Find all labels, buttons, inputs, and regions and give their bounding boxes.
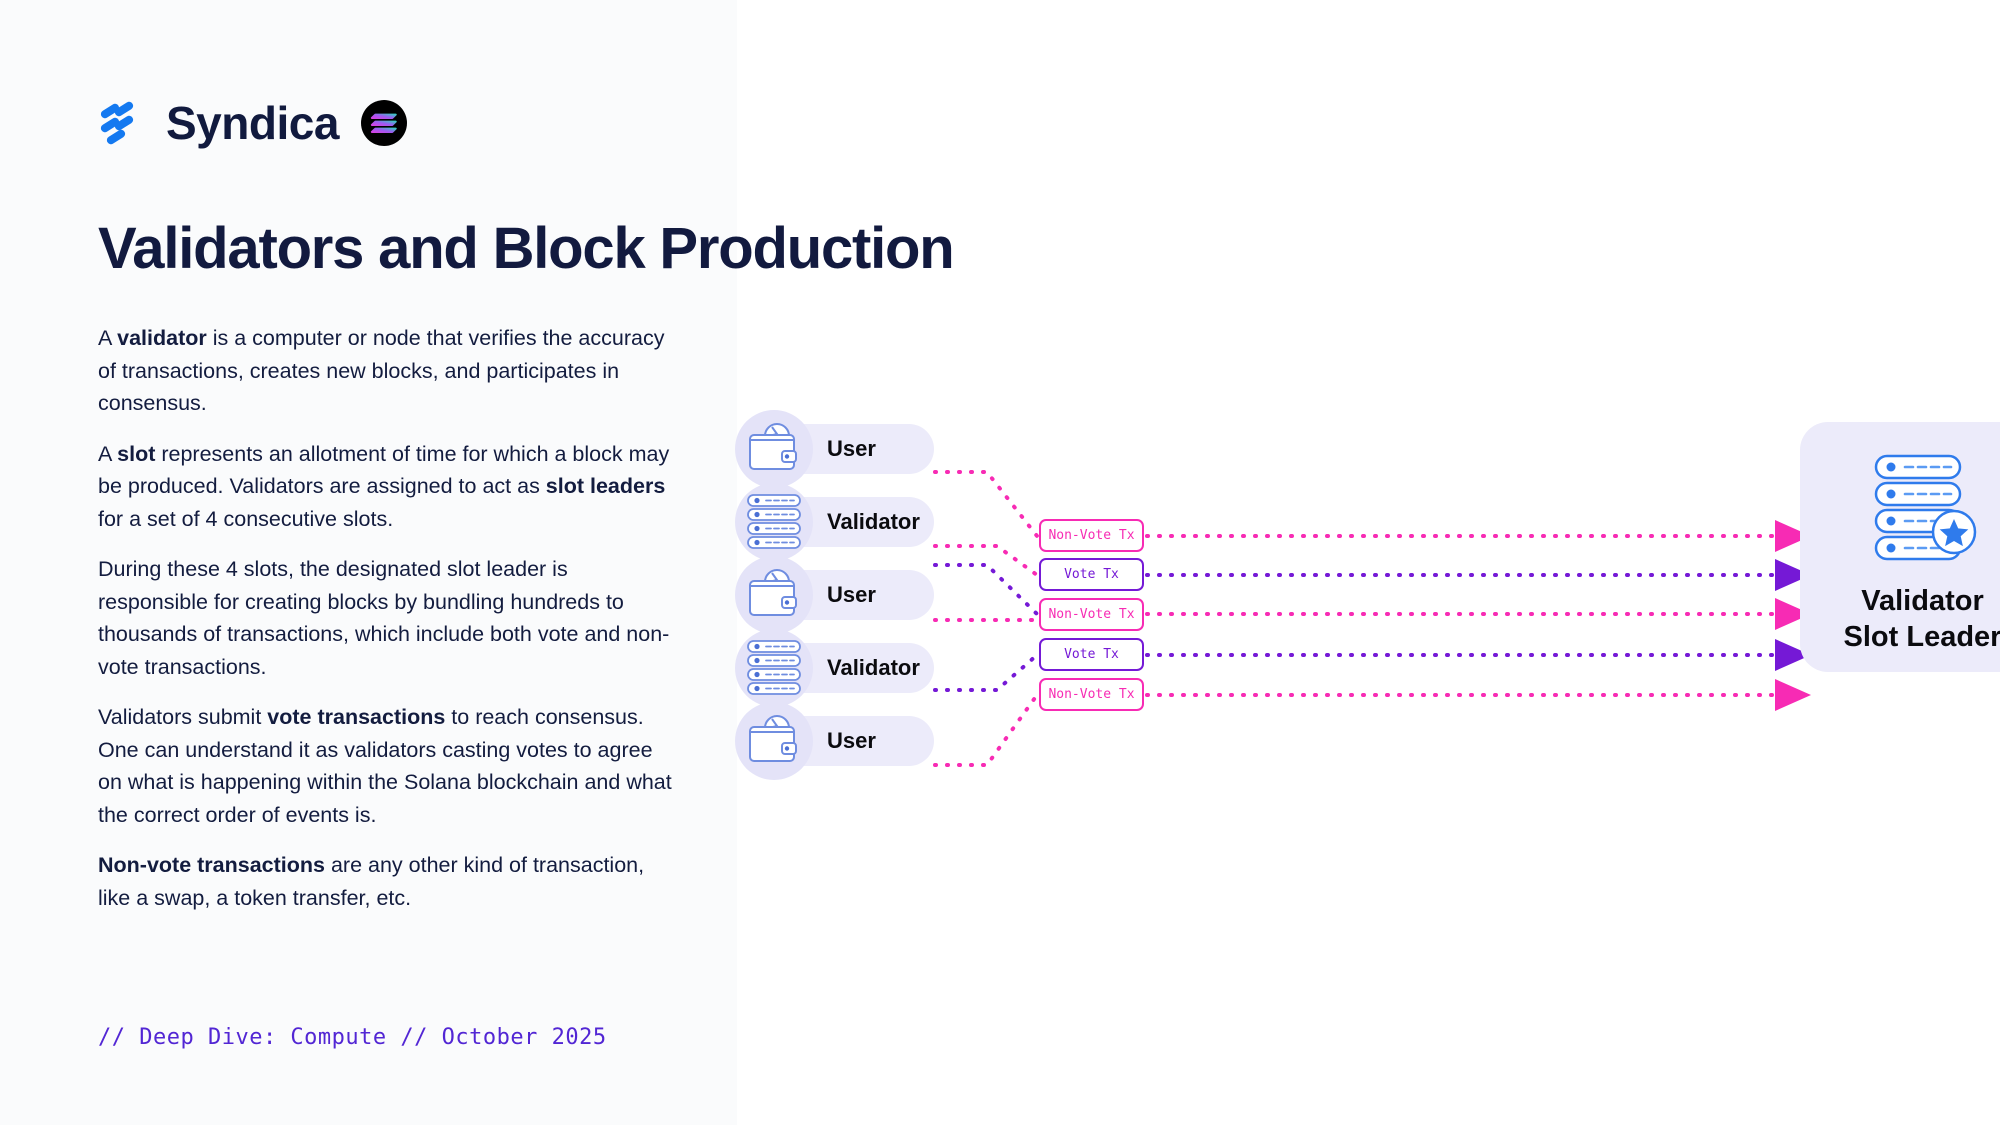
node-user-2: User <box>749 570 934 620</box>
tx-chip-nonvote-4: Non-Vote Tx <box>1039 678 1144 711</box>
diagram: User Validator User <box>737 0 2000 1125</box>
paragraph-p1: A validator is a computer or node that v… <box>98 322 678 420</box>
tx-chip-nonvote-2: Non-Vote Tx <box>1039 598 1144 631</box>
server-stack-star-icon <box>1864 450 1982 567</box>
slot-leader-label: Validator Slot Leader <box>1844 583 2000 655</box>
syndica-dots-logo <box>98 101 144 145</box>
node-user-4: User <box>749 716 934 766</box>
node-list: User Validator User <box>749 424 934 789</box>
node-label: User <box>827 582 876 608</box>
paragraph-p5: Non-vote transactions are any other kind… <box>98 849 678 914</box>
paragraph-p4: Validators submit vote transactions to r… <box>98 701 678 831</box>
tx-chip-vote-3: Vote Tx <box>1039 638 1144 671</box>
slide: Syndica Validators and Block Production … <box>0 0 2000 1125</box>
node-label: User <box>827 728 876 754</box>
tx-chip-nonvote-0: Non-Vote Tx <box>1039 519 1144 552</box>
wallet-icon <box>735 702 813 780</box>
brand-header: Syndica <box>98 100 407 146</box>
node-label: User <box>827 436 876 462</box>
server-stack-icon <box>735 629 813 707</box>
slot-leader-line1: Validator <box>1844 583 2000 619</box>
validator-slot-leader: Validator Slot Leader <box>1800 422 2000 672</box>
node-label: Validator <box>827 509 920 535</box>
node-label: Validator <box>827 655 920 681</box>
wallet-icon <box>735 556 813 634</box>
slot-leader-line2: Slot Leader <box>1844 619 2000 655</box>
brand-name: Syndica <box>166 100 339 146</box>
node-user-0: User <box>749 424 934 474</box>
paragraph-p3: During these 4 slots, the designated slo… <box>98 553 678 683</box>
solana-logo <box>361 100 407 146</box>
tx-chip-vote-1: Vote Tx <box>1039 558 1144 591</box>
node-validator-3: Validator <box>749 643 934 693</box>
node-validator-1: Validator <box>749 497 934 547</box>
server-stack-icon <box>735 483 813 561</box>
wallet-icon <box>735 410 813 488</box>
body-copy: A validator is a computer or node that v… <box>98 322 678 932</box>
paragraph-p2: A slot represents an allotment of time f… <box>98 438 678 536</box>
footer-note: // Deep Dive: Compute // October 2025 <box>98 1025 607 1050</box>
